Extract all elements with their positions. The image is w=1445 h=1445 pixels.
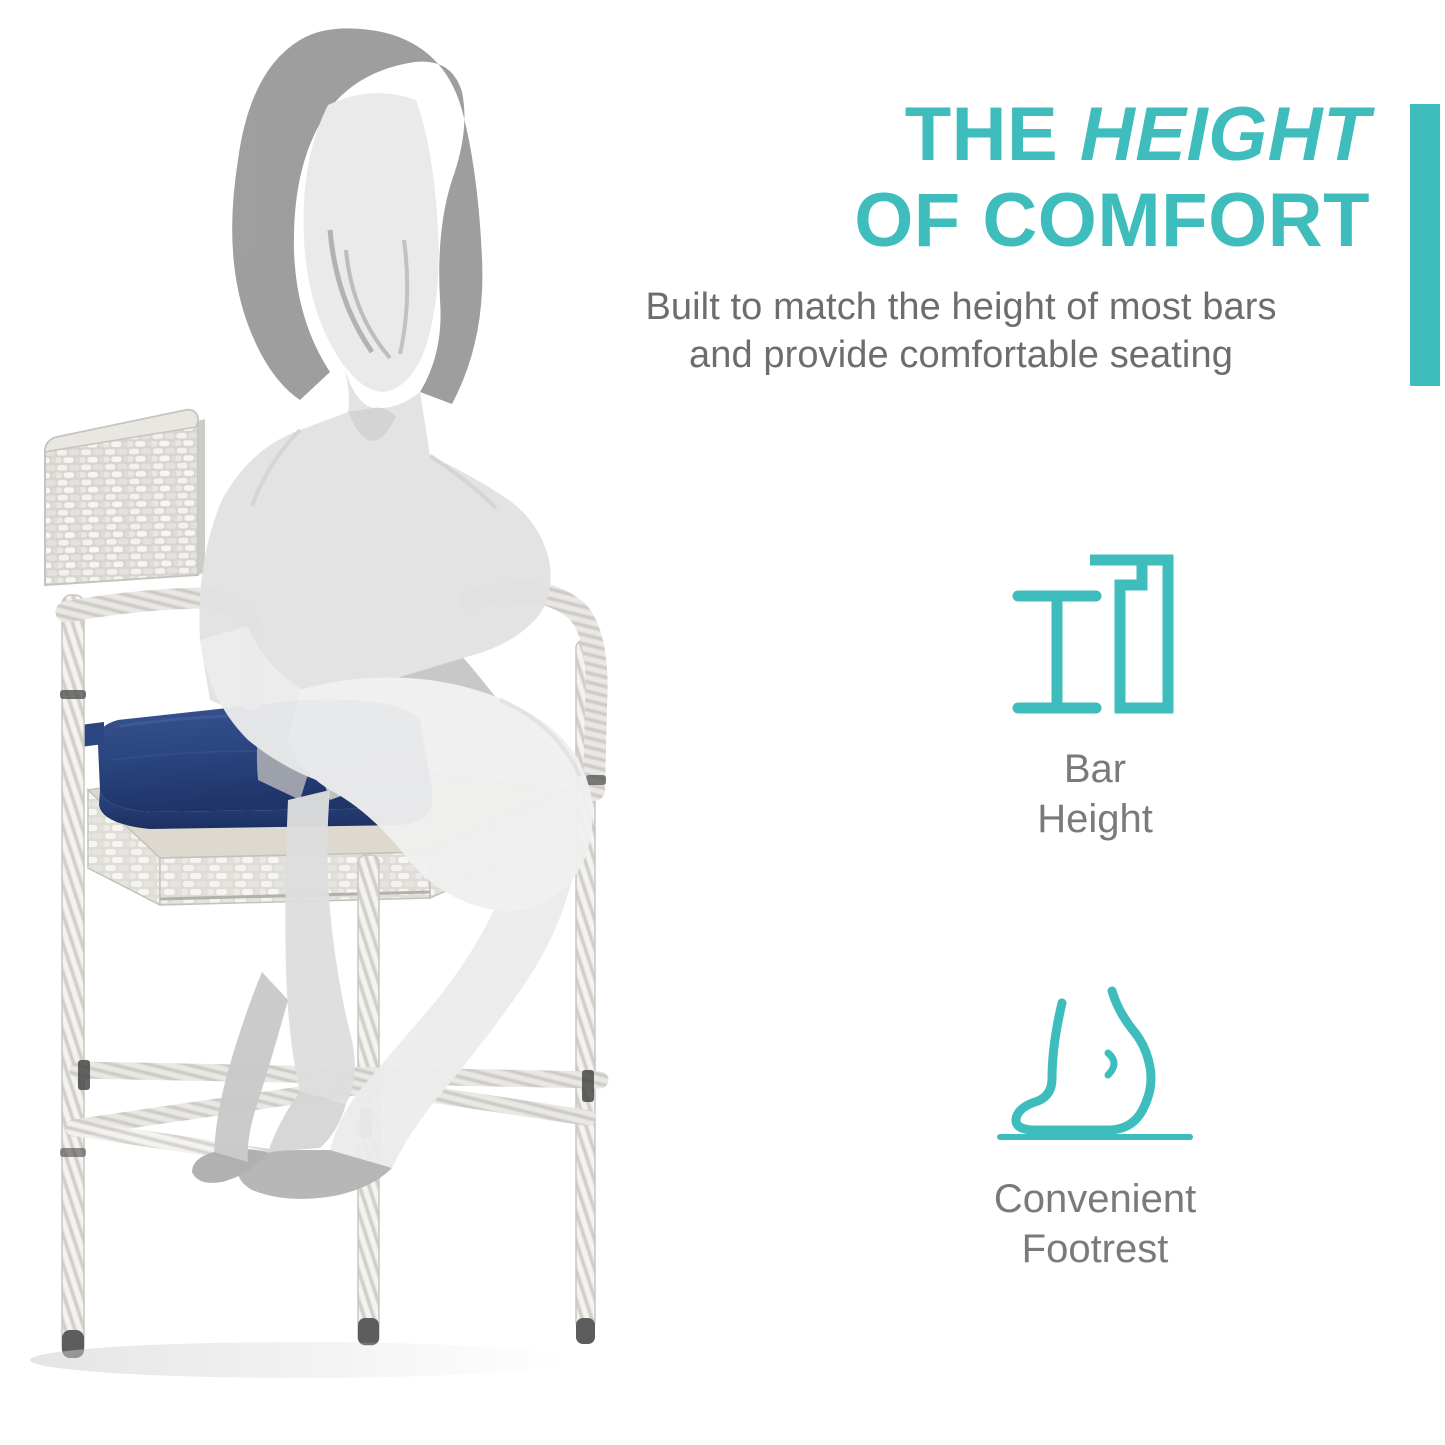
- bar-height-icon: [885, 530, 1305, 720]
- feature-label-line-1: Bar: [885, 744, 1305, 794]
- feature-label-line-1: Convenient: [885, 1174, 1305, 1224]
- bar-height-icon-svg: [990, 540, 1200, 720]
- subheadline: Built to match the height of most bars a…: [555, 283, 1367, 379]
- subheadline-line-1: Built to match the height of most bars: [555, 283, 1367, 331]
- feature-bar-height: Bar Height: [885, 530, 1305, 844]
- footrest-foot-icon-svg: [990, 975, 1200, 1150]
- headline-prefix: THE: [905, 92, 1080, 177]
- headline-line-1: THE HEIGHT: [560, 92, 1370, 178]
- headline: THE HEIGHT OF COMFORT: [560, 92, 1370, 264]
- chair-backrest: [45, 410, 205, 585]
- seated-person-silhouette: [192, 28, 593, 1198]
- feature-bar-height-label: Bar Height: [885, 744, 1305, 844]
- headline-emphasis: HEIGHT: [1080, 92, 1370, 177]
- feature-label-line-2: Footrest: [885, 1224, 1305, 1274]
- accent-bar: [1410, 104, 1440, 386]
- footrest-foot-icon: [885, 975, 1305, 1150]
- feature-footrest-label: Convenient Footrest: [885, 1174, 1305, 1274]
- feature-convenient-footrest: Convenient Footrest: [885, 975, 1305, 1274]
- product-feature-graphic: THE HEIGHT OF COMFORT Built to match the…: [0, 0, 1445, 1445]
- headline-line-2: OF COMFORT: [560, 178, 1370, 264]
- chair-leg-front-left: [60, 595, 86, 1358]
- feature-label-line-2: Height: [885, 794, 1305, 844]
- subheadline-line-2: and provide comfortable seating: [555, 331, 1367, 379]
